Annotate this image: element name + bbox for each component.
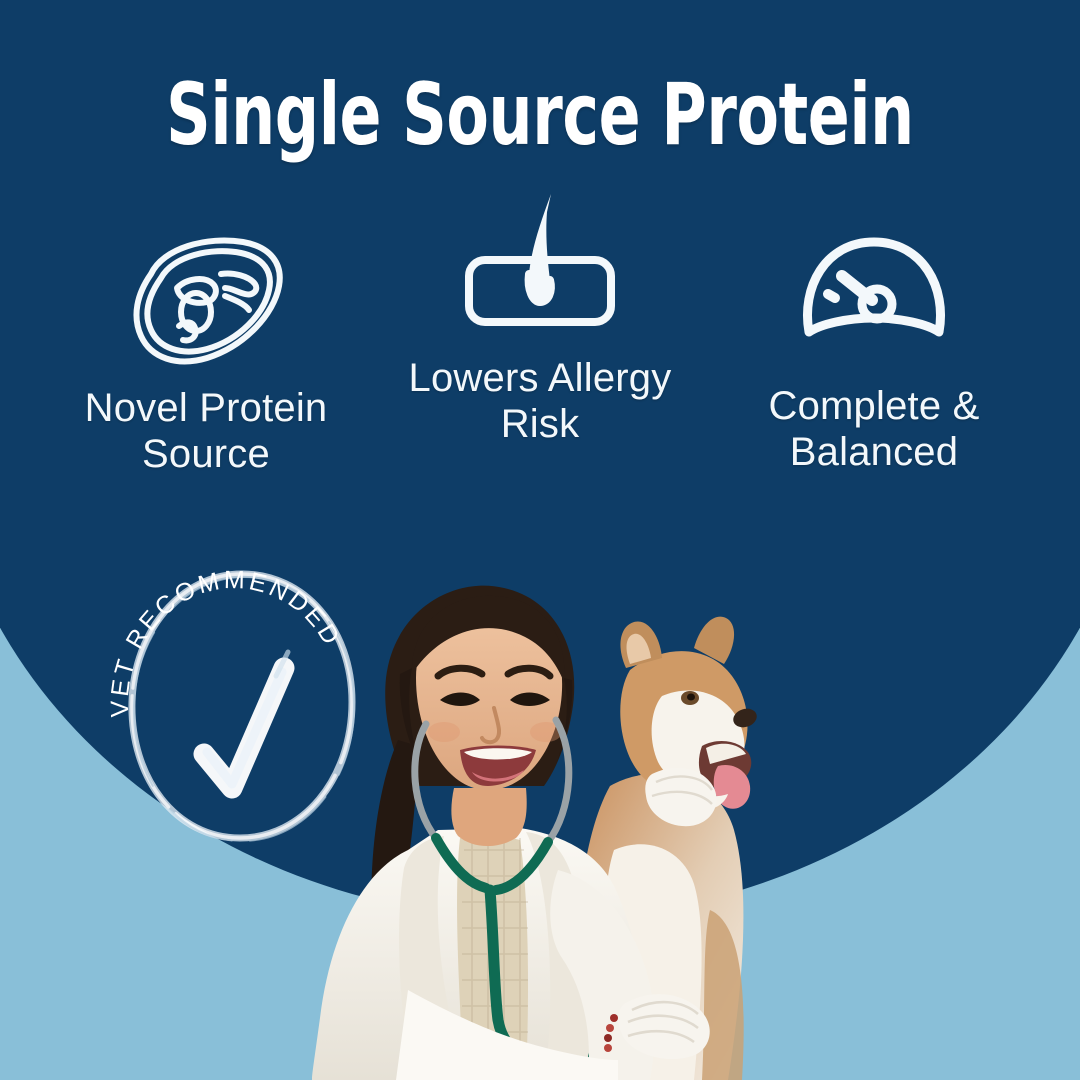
feature-label-novel-protein: Novel Protein Source xyxy=(51,386,361,477)
veterinarian-with-husky-photo xyxy=(258,550,818,1080)
hair-follicle-icon xyxy=(459,170,621,340)
feature-row: Novel Protein Source Lowers Allergy Risk xyxy=(0,218,1080,518)
steak-icon xyxy=(121,218,291,370)
feature-item-novel-protein: Novel Protein Source xyxy=(46,218,366,518)
feature-label-complete-balanced: Complete & Balanced xyxy=(719,384,1029,475)
feature-item-lowers-allergy: Lowers Allergy Risk xyxy=(380,170,700,518)
feature-label-lowers-allergy: Lowers Allergy Risk xyxy=(385,356,695,447)
page-title: Single Source Protein xyxy=(108,72,972,158)
feature-item-complete-balanced: Complete & Balanced xyxy=(714,226,1034,518)
gauge-icon xyxy=(795,226,953,368)
poster-canvas: Single Source Protein xyxy=(0,0,1080,1080)
